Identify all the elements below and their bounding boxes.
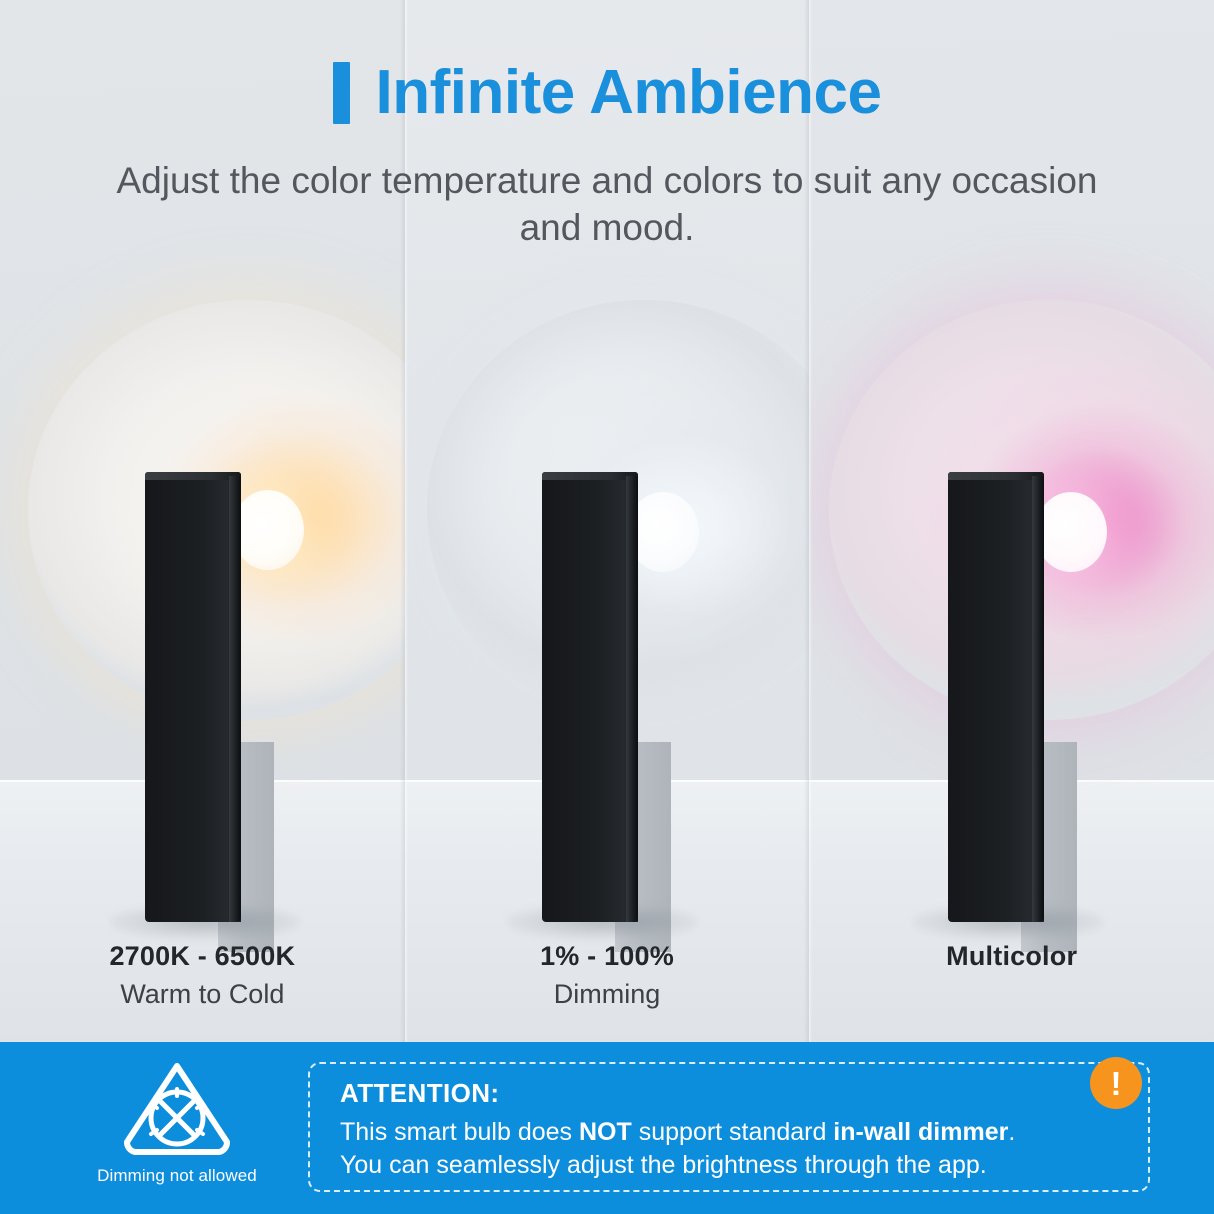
exclamation-badge-icon: ! <box>1090 1057 1142 1109</box>
attention-heading: ATTENTION: <box>340 1078 1122 1109</box>
bulb-sphere <box>232 490 304 570</box>
attention-line1-bold-dimmer: in-wall dimmer <box>833 1118 1008 1146</box>
scene-panel-multicolor: Multicolor <box>809 0 1214 1042</box>
caption-title: 2700K - 6500K <box>0 940 405 974</box>
bulb-sphere <box>1035 492 1107 572</box>
caption-dimming: 1% - 100% Dimming <box>405 940 810 1012</box>
lamp-body <box>542 472 638 922</box>
attention-content: ATTENTION: This smart bulb does NOT supp… <box>340 1078 1122 1182</box>
scene-panels: 2700K - 6500K Warm to Cold 1% - 100% Dim… <box>0 0 1214 1042</box>
caption-title: Multicolor <box>809 940 1214 974</box>
scene-panel-warm-to-cold: 2700K - 6500K Warm to Cold <box>0 0 405 1042</box>
caption-title: 1% - 100% <box>405 940 810 974</box>
attention-banner: Dimming not allowed ATTENTION: This smar… <box>0 1042 1214 1214</box>
attention-line1-part-c: support standard <box>632 1118 834 1146</box>
caption-warm-to-cold: 2700K - 6500K Warm to Cold <box>0 940 405 1012</box>
product-infographic: 2700K - 6500K Warm to Cold 1% - 100% Dim… <box>0 0 1214 1214</box>
attention-line1-bold-not: NOT <box>579 1118 632 1146</box>
caption-subtitle: Warm to Cold <box>0 977 405 1012</box>
attention-line1-part-a: This smart bulb does <box>340 1118 579 1146</box>
attention-box: ATTENTION: This smart bulb does NOT supp… <box>308 1062 1150 1192</box>
lamp-body <box>948 472 1044 922</box>
dimming-not-allowed-icon <box>115 1056 239 1160</box>
scene-panel-dimming: 1% - 100% Dimming <box>405 0 810 1042</box>
caption-subtitle: Dimming <box>405 977 810 1012</box>
attention-line1-part-e: . <box>1008 1118 1015 1146</box>
attention-line-2: You can seamlessly adjust the brightness… <box>340 1149 1122 1182</box>
attention-line-1: This smart bulb does NOT support standar… <box>340 1116 1122 1149</box>
dimming-not-allowed-group: Dimming not allowed <box>78 1056 276 1186</box>
lamp-body <box>145 472 241 922</box>
dimming-not-allowed-label: Dimming not allowed <box>78 1166 276 1186</box>
caption-multicolor: Multicolor <box>809 940 1214 977</box>
